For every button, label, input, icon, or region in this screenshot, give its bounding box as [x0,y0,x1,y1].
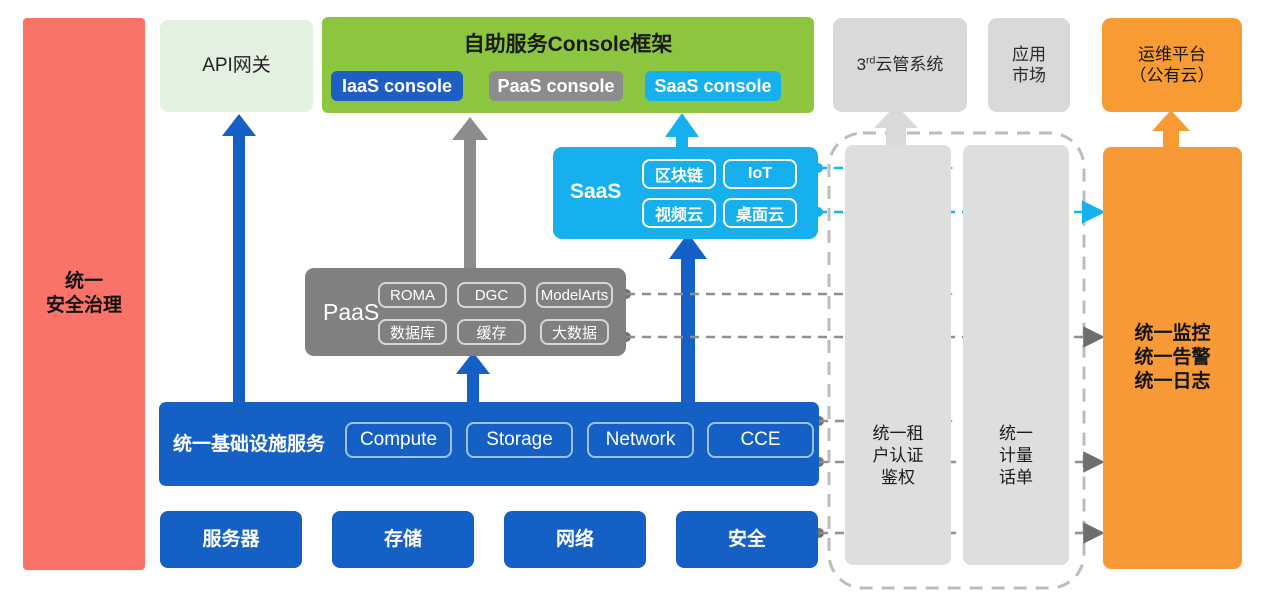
api-gateway-box[interactable]: API网关 [160,20,313,112]
saas-pill-blockchain-label: 区块链 [655,162,703,186]
hardware-server-label: 服务器 [202,528,259,552]
paas-pill-database[interactable]: 数据库 [378,319,447,345]
third-party-label: 3rd云管系统 [857,54,944,75]
paas-pill-bigdata[interactable]: 大数据 [540,319,609,345]
ops-platform-line-1: 运维平台 [1138,44,1206,65]
unified-security-panel[interactable]: 统一 安全治理 [23,18,145,570]
third-party-prefix: 3 [857,55,866,74]
arrow-infra-to-api [222,114,256,410]
unified-ops-panel[interactable]: 统一监控 统一告警 统一日志 [1103,147,1242,569]
saas-pill-desktop-cloud[interactable]: 桌面云 [723,198,797,228]
architecture-diagram: 统一 安全治理 API网关 自助服务Console框架 IaaS console… [0,0,1265,605]
api-gateway-label: API网关 [202,54,271,78]
paas-label: PaaS [323,298,379,327]
saas-pill-blockchain[interactable]: 区块链 [642,159,716,189]
infra-pill-network[interactable]: Network [587,422,694,458]
saas-pill-iot[interactable]: IoT [723,159,797,189]
auth-line-3: 鉴权 [845,467,951,489]
paas-pill-dgc[interactable]: DGC [457,282,526,308]
unified-auth-column[interactable]: 统一租 户认证 鉴权 [845,145,951,565]
billing-line-1: 统一 [963,423,1069,445]
billing-line-3: 话单 [963,467,1069,489]
unified-auth-label: 统一租 户认证 鉴权 [845,423,951,489]
hardware-network-label: 网络 [556,528,594,552]
paas-pill-dgc-label: DGC [475,287,508,304]
console-framework-title: 自助服务Console框架 [322,32,814,58]
security-line-1: 统一 [65,270,103,294]
paas-pill-modelarts[interactable]: ModelArts [536,282,613,308]
auth-line-1: 统一租 [845,423,951,445]
infra-pill-storage-label: Storage [486,429,553,451]
hardware-box-security[interactable]: 安全 [676,511,818,568]
infra-pill-network-label: Network [606,429,676,451]
billing-line-2: 计量 [963,445,1069,467]
hardware-security-label: 安全 [728,528,766,552]
unified-infrastructure-label: 统一基础设施服务 [173,433,325,457]
paas-pill-modelarts-label: ModelArts [541,287,609,304]
infra-pill-cce[interactable]: CCE [707,422,814,458]
saas-console-label: SaaS console [654,76,771,97]
ops-platform-line-2: （公有云） [1130,65,1215,86]
paas-pill-bigdata-label: 大数据 [552,322,597,343]
iaas-console-pill[interactable]: IaaS console [331,71,463,101]
app-market-line-1: 应用 [1012,44,1046,65]
unified-billing-column[interactable]: 统一 计量 话单 [963,145,1069,565]
paas-pill-cache[interactable]: 缓存 [457,319,526,345]
arrow-paas-to-console [452,117,488,269]
saas-pill-desktop-cloud-label: 桌面云 [736,201,784,225]
hardware-storage-label: 存储 [384,528,422,552]
saas-label: SaaS [570,179,621,205]
paas-console-label: PaaS console [497,76,614,97]
saas-console-pill[interactable]: SaaS console [645,71,781,101]
arrow-infra-to-saas [669,233,707,410]
app-market-line-2: 市场 [1012,65,1046,86]
hardware-box-network[interactable]: 网络 [504,511,646,568]
paas-pill-roma[interactable]: ROMA [378,282,447,308]
infra-pill-compute[interactable]: Compute [345,422,452,458]
ops-panel-line-3: 统一日志 [1134,370,1210,394]
paas-pill-cache-label: 缓存 [476,322,506,343]
saas-pill-iot-label: IoT [748,165,772,183]
unified-billing-label: 统一 计量 话单 [963,423,1069,489]
arrow-into-ops-platform [1152,110,1190,148]
infra-pill-storage[interactable]: Storage [466,422,573,458]
infra-pill-compute-label: Compute [360,429,437,451]
third-party-cloud-box[interactable]: 3rd云管系统 [833,18,967,112]
paas-console-pill[interactable]: PaaS console [489,71,623,101]
security-line-2: 安全治理 [46,294,122,318]
paas-pill-database-label: 数据库 [390,322,435,343]
auth-line-2: 户认证 [845,445,951,467]
saas-pill-video-cloud-label: 视频云 [655,201,703,225]
saas-pill-video-cloud[interactable]: 视频云 [642,198,716,228]
ops-platform-public-cloud-box[interactable]: 运维平台 （公有云） [1102,18,1242,112]
hardware-box-storage[interactable]: 存储 [332,511,474,568]
app-market-box[interactable]: 应用 市场 [988,18,1070,112]
infra-pill-cce-label: CCE [740,429,780,451]
hardware-box-server[interactable]: 服务器 [160,511,302,568]
paas-pill-roma-label: ROMA [390,287,435,304]
iaas-console-label: IaaS console [342,76,452,97]
ops-panel-line-2: 统一告警 [1134,346,1210,370]
ops-panel-line-1: 统一监控 [1134,322,1210,346]
third-party-suffix: 云管系统 [875,55,943,74]
